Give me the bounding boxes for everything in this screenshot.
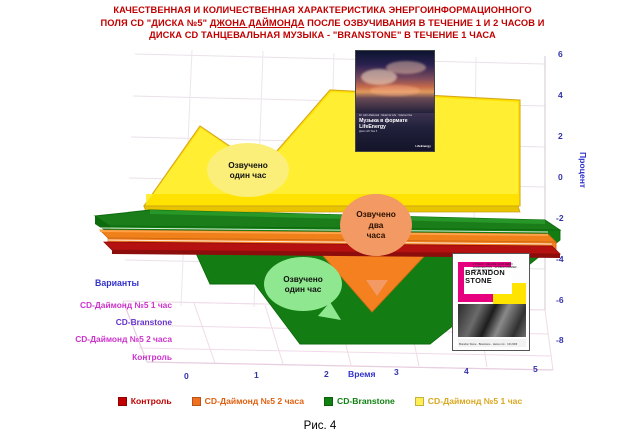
z-tick-m8: -8 <box>556 335 564 345</box>
callout-green-line1: Озвучено <box>283 274 323 284</box>
y-category-3: Контроль <box>0 352 172 362</box>
cover-title: Музыка в формате LifeEnergy <box>359 118 431 130</box>
callout-orange-line1: Озвучено <box>356 209 396 219</box>
callout-yellow: Озвучено один час <box>207 143 289 197</box>
title-line-2-c: ПОСЛЕ ОЗВУЧИВАНИЯ В ТЕЧЕНИЕ 1 И 2 ЧАСОВ … <box>304 18 544 28</box>
title-line-2-highlight: ДЖОНА ДАЙМОНДА <box>210 18 305 28</box>
cover-bs-name-line2: STONE <box>465 277 512 285</box>
y-category-2: CD-Даймонд №5 2 часа <box>0 334 172 344</box>
callout-yellow-line2: один час <box>228 170 268 180</box>
legend-swatch-branstone <box>324 397 333 406</box>
x-tick-3: 3 <box>394 367 399 377</box>
figure-title: КАЧЕСТВЕННАЯ И КОЛИЧЕСТВЕННАЯ ХАРАКТЕРИС… <box>50 4 595 42</box>
cd-cover-lifelight: Dr. John Diamond · Music for Life · Volu… <box>355 50 435 152</box>
z-tick-6: 6 <box>558 49 563 59</box>
z-tick-m2: -2 <box>556 213 564 223</box>
title-line-2: ПОЛЯ CD "ДИСКА №5" ДЖОНА ДАЙМОНДА ПОСЛЕ … <box>50 17 595 30</box>
cover-cloud-2 <box>386 61 427 74</box>
legend-label-control: Контроль <box>131 396 172 406</box>
legend-item-branstone: CD-Branstone <box>324 396 395 406</box>
cd-cover-brandon-stone: 1 TRACK · DELUXE CLUB REMIX · PIANO EDIT… <box>452 253 530 351</box>
cover-bs-wrap: 1 TRACK · DELUXE CLUB REMIX · PIANO EDIT… <box>453 254 529 350</box>
legend-label-diamond-1h: CD-Даймонд №5 1 час <box>428 396 522 406</box>
legend-item-diamond-1h: CD-Даймонд №5 1 час <box>415 396 522 406</box>
figure-caption: Рис. 4 <box>0 420 640 432</box>
z-tick-m4: -4 <box>556 254 564 264</box>
x-tick-2: 2 <box>324 369 329 379</box>
legend-swatch-control <box>118 397 127 406</box>
figure-root: КАЧЕСТВЕННАЯ И КОЛИЧЕСТВЕННАЯ ХАРАКТЕРИС… <box>0 0 640 440</box>
x-axis-title: Время <box>348 369 376 379</box>
legend-swatch-diamond-2h <box>192 397 201 406</box>
y-category-0: CD-Даймонд №5 1 час <box>0 300 172 310</box>
x-tick-0: 0 <box>184 371 189 381</box>
x-tick-4: 4 <box>464 366 469 376</box>
z-tick-0: 0 <box>558 172 563 182</box>
x-tick-5: 5 <box>533 364 538 374</box>
z-tick-m6: -6 <box>556 295 564 305</box>
cover-top-text: Dr. John Diamond · Music for Life · Volu… <box>359 114 431 117</box>
cover-cloud-3 <box>370 85 420 96</box>
cover-bs-name: BRANDON STONE <box>465 269 512 285</box>
title-line-2-a: ПОЛЯ CD "ДИСКА №5" <box>100 18 209 28</box>
z-axis-title: Процент <box>578 152 588 188</box>
callout-green-line2: один час <box>283 284 323 294</box>
legend-label-diamond-2h: CD-Даймонд №5 2 часа <box>205 396 304 406</box>
x-tick-1: 1 <box>254 370 259 380</box>
z-tick-4: 4 <box>558 90 563 100</box>
callout-orange-line3: часа <box>356 230 396 240</box>
cover-subtitle: Диск №5 Том 5 <box>359 130 431 133</box>
z-tick-2: 2 <box>558 131 563 141</box>
chart-plot-area: Озвучено один час Озвучено два часа Озву… <box>0 44 640 374</box>
surface-cd-diamond-1h <box>144 90 520 212</box>
title-line-3: ДИСКА CD ТАНЦЕВАЛЬНАЯ МУЗЫКА - "BRANSTON… <box>50 29 595 42</box>
callout-orange-line2: два <box>356 220 396 230</box>
legend-label-branstone: CD-Branstone <box>337 396 395 406</box>
callout-orange: Озвучено два часа <box>340 194 412 256</box>
legend-swatch-diamond-1h <box>415 397 424 406</box>
chart-legend: Контроль CD-Даймонд №5 2 часа CD-Bransto… <box>0 392 640 410</box>
cover-text-block: Dr. John Diamond · Music for Life · Volu… <box>359 114 431 133</box>
cover-bs-bar-text: Brandon Stone · Branstone · dance mix · … <box>459 343 517 346</box>
legend-item-diamond-2h: CD-Даймонд №5 2 часа <box>192 396 304 406</box>
y-axis-title: Варианты <box>95 278 139 288</box>
y-category-1: CD-Branstone <box>0 317 172 327</box>
callout-green: Озвучено один час <box>264 257 342 311</box>
title-line-1: КАЧЕСТВЕННАЯ И КОЛИЧЕСТВЕННАЯ ХАРАКТЕРИС… <box>50 4 595 17</box>
cover-logo: LifeEnergy <box>415 144 431 148</box>
cover-bs-photo <box>458 304 526 337</box>
legend-item-control: Контроль <box>118 396 172 406</box>
callout-yellow-line1: Озвучено <box>228 160 268 170</box>
